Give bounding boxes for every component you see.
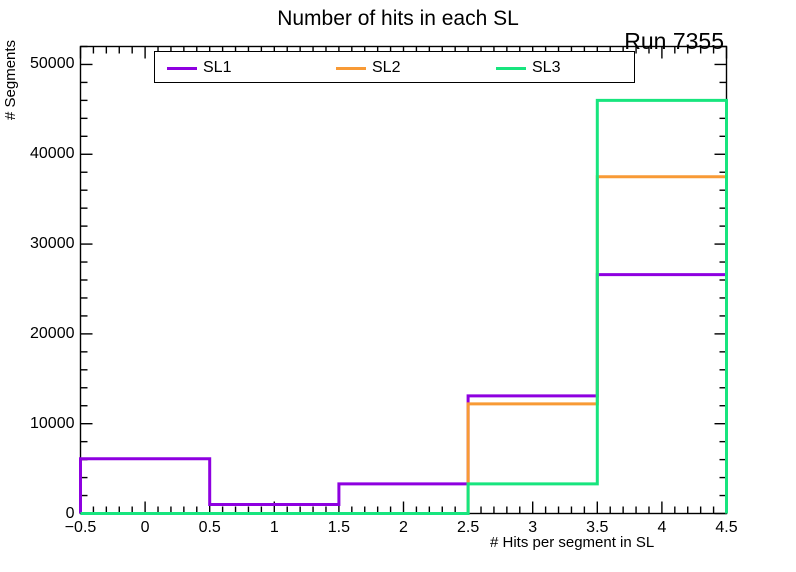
series-line-sl2 xyxy=(81,177,727,514)
plot-canvas: Number of hits in each SL Run 7355 # Seg… xyxy=(0,0,796,572)
y-tick-label: 10000 xyxy=(30,416,75,432)
legend-swatch-sl1 xyxy=(167,67,197,70)
legend-label-sl2: SL2 xyxy=(372,60,400,76)
x-tick-label: 2 xyxy=(374,520,434,536)
x-tick-label: 1.5 xyxy=(309,520,369,536)
series-line-sl1 xyxy=(81,275,727,514)
x-tick-label: 3.5 xyxy=(567,520,627,536)
x-tick-label: 0.5 xyxy=(180,520,240,536)
x-tick-label: 4 xyxy=(632,520,692,536)
plot-frame xyxy=(81,47,727,514)
legend-swatch-sl3 xyxy=(496,67,526,70)
histogram-plot xyxy=(0,0,796,572)
legend-swatch-sl2 xyxy=(336,67,366,70)
y-tick-label: 20000 xyxy=(30,326,75,342)
x-tick-label: 1 xyxy=(244,520,304,536)
y-tick-label: 50000 xyxy=(30,56,75,72)
y-tick-label: 30000 xyxy=(30,236,75,252)
x-tick-label: 3 xyxy=(503,520,563,536)
legend-label-sl1: SL1 xyxy=(203,60,231,76)
legend: SL1 SL2 SL3 xyxy=(154,51,635,83)
y-tick-label: 40000 xyxy=(30,146,75,162)
x-tick-label: 0 xyxy=(115,520,175,536)
x-tick-label: 2.5 xyxy=(438,520,498,536)
legend-label-sl3: SL3 xyxy=(532,60,560,76)
axis-ticks xyxy=(81,47,727,514)
histogram-series xyxy=(81,100,727,513)
series-line-sl3 xyxy=(81,100,727,513)
legend-entry-1: SL2 xyxy=(336,52,400,84)
x-tick-label: 4.5 xyxy=(697,520,757,536)
legend-entry-0: SL1 xyxy=(167,52,231,84)
legend-entry-2: SL3 xyxy=(496,52,560,84)
x-tick-label: −0.5 xyxy=(51,520,111,536)
